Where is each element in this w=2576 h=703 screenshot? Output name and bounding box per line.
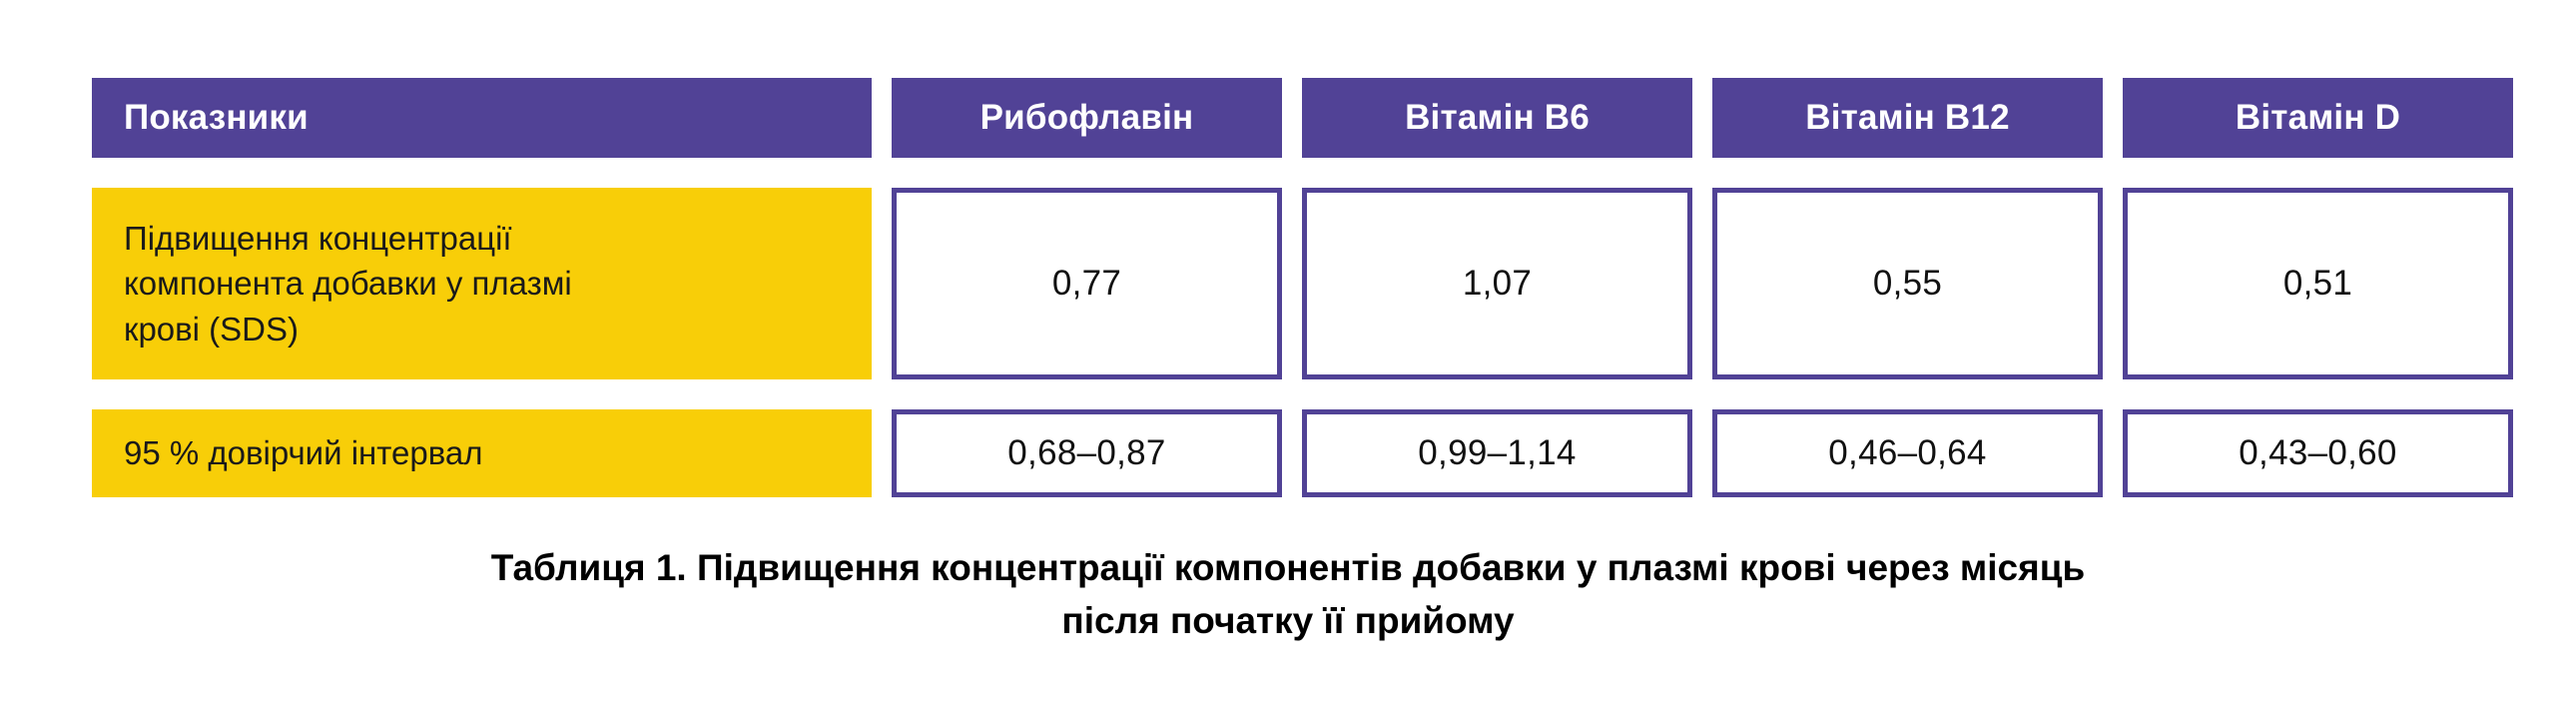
table-header-row: Показники Рибофлавін Вітамін B6 Вітамін … (92, 78, 2484, 158)
cell-value-text: 0,51 (2283, 264, 2352, 304)
cell-value-text: 0,46–0,64 (1828, 433, 1986, 473)
cell-sds-riboflavin: 0,77 (892, 188, 1282, 379)
row-label-line: 95 % довірчий інтервал (124, 430, 483, 476)
cell-sds-vitamin-d: 0,51 (2123, 188, 2513, 379)
row-label-text: Підвищення концентрації компонента добав… (124, 216, 572, 352)
column-header-vitamin-b12: Вітамін B12 (1712, 78, 2103, 158)
row-label-line: крові (SDS) (124, 307, 572, 352)
data-table: Показники Рибофлавін Вітамін B6 Вітамін … (92, 78, 2484, 497)
cell-value-text: 0,43–0,60 (2239, 433, 2396, 473)
column-header-vitamin-d: Вітамін D (2123, 78, 2513, 158)
row-label-text: 95 % довірчий інтервал (124, 430, 483, 476)
cell-sds-vitamin-b6: 1,07 (1302, 188, 1692, 379)
cell-value-text: 0,99–1,14 (1418, 433, 1576, 473)
column-header-label: Вітамін B12 (1805, 98, 2010, 138)
table-figure: Показники Рибофлавін Вітамін B6 Вітамін … (0, 0, 2576, 703)
table-caption: Таблиця 1. Підвищення концентрації компо… (0, 542, 2576, 647)
column-header-label: Вітамін B6 (1405, 98, 1590, 138)
cell-sds-vitamin-b12: 0,55 (1712, 188, 2103, 379)
cell-value-text: 0,55 (1873, 264, 1942, 304)
table-row: Підвищення концентрації компонента добав… (92, 188, 2484, 379)
row-label-line: Підвищення концентрації (124, 216, 572, 262)
column-header-label: Показники (124, 98, 309, 138)
column-header-label: Вітамін D (2236, 98, 2400, 138)
cell-ci-vitamin-b12: 0,46–0,64 (1712, 409, 2103, 497)
caption-line-2: після початку її прийому (220, 595, 2356, 648)
caption-line-1: Таблиця 1. Підвищення концентрації компо… (220, 542, 2356, 595)
row-label-line: компонента добавки у плазмі (124, 261, 572, 307)
column-header-indicators: Показники (92, 78, 872, 158)
cell-value-text: 0,68–0,87 (1007, 433, 1165, 473)
column-header-label: Рибофлавін (980, 98, 1194, 138)
cell-ci-vitamin-b6: 0,99–1,14 (1302, 409, 1692, 497)
column-header-riboflavin: Рибофлавін (892, 78, 1282, 158)
cell-ci-vitamin-d: 0,43–0,60 (2123, 409, 2513, 497)
cell-ci-riboflavin: 0,68–0,87 (892, 409, 1282, 497)
column-header-vitamin-b6: Вітамін B6 (1302, 78, 1692, 158)
table-row: 95 % довірчий інтервал 0,68–0,87 0,99–1,… (92, 409, 2484, 497)
row-label-confidence-interval: 95 % довірчий інтервал (92, 409, 872, 497)
cell-value-text: 0,77 (1052, 264, 1121, 304)
cell-value-text: 1,07 (1463, 264, 1532, 304)
row-label-sds-increase: Підвищення концентрації компонента добав… (92, 188, 872, 379)
